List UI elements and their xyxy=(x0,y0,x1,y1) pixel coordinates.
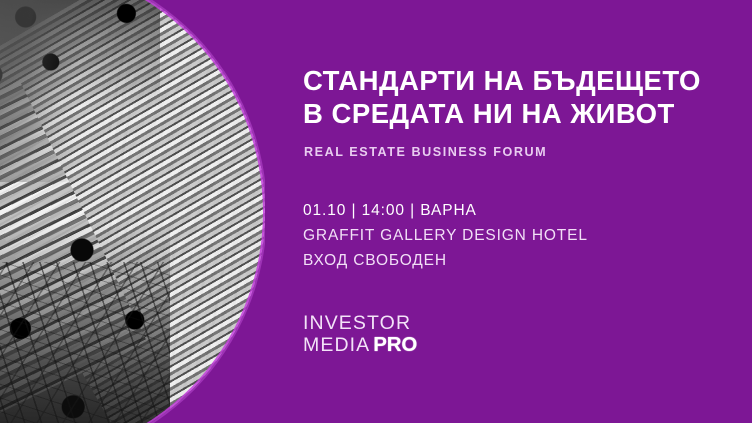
event-title-line-2: В СРЕДАТА НИ НА ЖИВОТ xyxy=(303,97,703,130)
purple-light-rays xyxy=(0,0,120,182)
event-title-line-1: СТАНДАРТИ НА БЪДЕЩЕТО xyxy=(303,64,703,97)
logo-word-pro: PRO xyxy=(373,333,417,357)
logo-second-row: MEDIA PRO xyxy=(303,333,438,357)
logo-word-media: MEDIA xyxy=(303,335,370,355)
building-photo xyxy=(0,0,265,423)
event-details: 01.10 | 14:00 | ВАРНА GRAFFIT GALLERY DE… xyxy=(303,198,588,273)
photo-ellipse-clip xyxy=(0,0,265,423)
logo-word-investor: INVESTOR xyxy=(303,314,438,333)
event-datetime-location: 01.10 | 14:00 | ВАРНА xyxy=(303,198,588,223)
event-banner: СТАНДАРТИ НА БЪДЕЩЕТО В СРЕДАТА НИ НА ЖИ… xyxy=(0,0,752,423)
photo-panel xyxy=(0,0,265,423)
event-title: СТАНДАРТИ НА БЪДЕЩЕТО В СРЕДАТА НИ НА ЖИ… xyxy=(303,64,703,130)
event-subtitle: REAL ESTATE BUSINESS FORUM xyxy=(304,145,547,159)
content-panel: СТАНДАРТИ НА БЪДЕЩЕТО В СРЕДАТА НИ НА ЖИ… xyxy=(303,0,752,423)
tree-branches xyxy=(0,262,170,423)
investor-media-pro-logo[interactable]: INVESTOR MEDIA PRO xyxy=(303,314,438,357)
event-admission: ВХОД СВОБОДЕН xyxy=(303,248,588,273)
event-venue: GRAFFIT GALLERY DESIGN HOTEL xyxy=(303,223,588,248)
